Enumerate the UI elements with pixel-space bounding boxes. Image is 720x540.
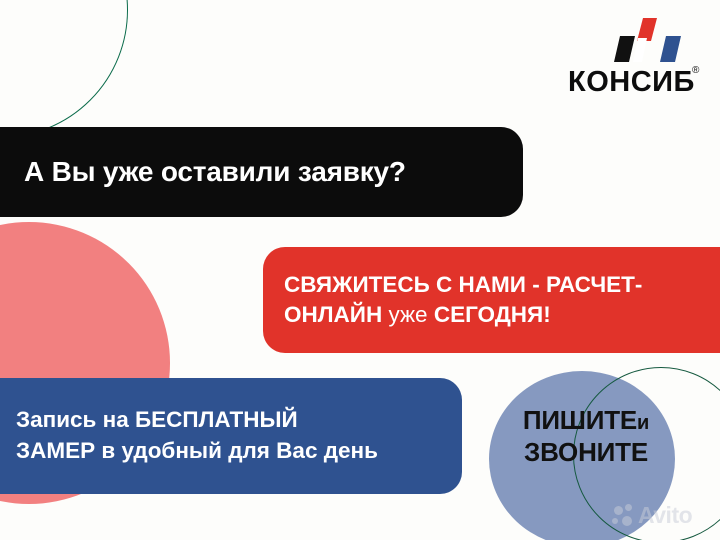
contact-card-text: СВЯЖИТЕСЬ С НАМИ - РАСЧЕТ- ОНЛАЙН уже СЕ… [263, 270, 652, 329]
watermark-dot-icon [622, 516, 632, 526]
question-card: А Вы уже оставили заявку? [0, 127, 523, 217]
watermark-dot-icon [625, 504, 632, 511]
brand-logo: КОНСИБ ® [568, 18, 708, 102]
watermark-dot-icon [612, 518, 618, 524]
logo-diamond-mark-icon [614, 18, 688, 66]
measurement-line1-strong: БЕСПЛАТНЫЙ [135, 407, 298, 432]
logo-wordmark: КОНСИБ [568, 68, 694, 97]
promo-poster: КОНСИБ ® А Вы уже оставили заявку? СВЯЖИ… [0, 0, 720, 540]
contact-line2-strong-a: ОНЛАЙН [284, 302, 382, 327]
avito-watermark: Avito [612, 503, 712, 533]
measurement-line2-thin: в удобный для Вас день [101, 438, 378, 463]
call-to-action-text: ПИШИТЕи ЗВОНИТЕ [489, 405, 683, 468]
green-ring-decoration-top [0, 0, 128, 138]
measurement-line1-thin: Запись на [16, 407, 129, 432]
contact-line1: СВЯЖИТЕСЬ С НАМИ - РАСЧЕТ- [284, 272, 642, 297]
registered-trademark-symbol: ® [692, 66, 699, 76]
cta-line1-conjunction: и [637, 412, 649, 434]
contact-card: СВЯЖИТЕСЬ С НАМИ - РАСЧЕТ- ОНЛАЙН уже СЕ… [263, 247, 720, 353]
measurement-card: Запись на БЕСПЛАТНЫЙ ЗАМЕР в удобный для… [0, 378, 462, 494]
measurement-card-text: Запись на БЕСПЛАТНЫЙ ЗАМЕР в удобный для… [0, 405, 390, 466]
contact-line2-strong-b: СЕГОДНЯ! [434, 302, 551, 327]
watermark-label: Avito [638, 504, 692, 527]
cta-line2-main: ЗВОНИТЕ [524, 437, 648, 467]
cta-line1-main: ПИШИТЕ [523, 405, 637, 435]
contact-line2-thin: уже [388, 302, 427, 327]
question-card-text: А Вы уже оставили заявку? [0, 156, 406, 188]
measurement-line2-strong: ЗАМЕР [16, 438, 95, 463]
watermark-dot-icon [614, 506, 623, 515]
